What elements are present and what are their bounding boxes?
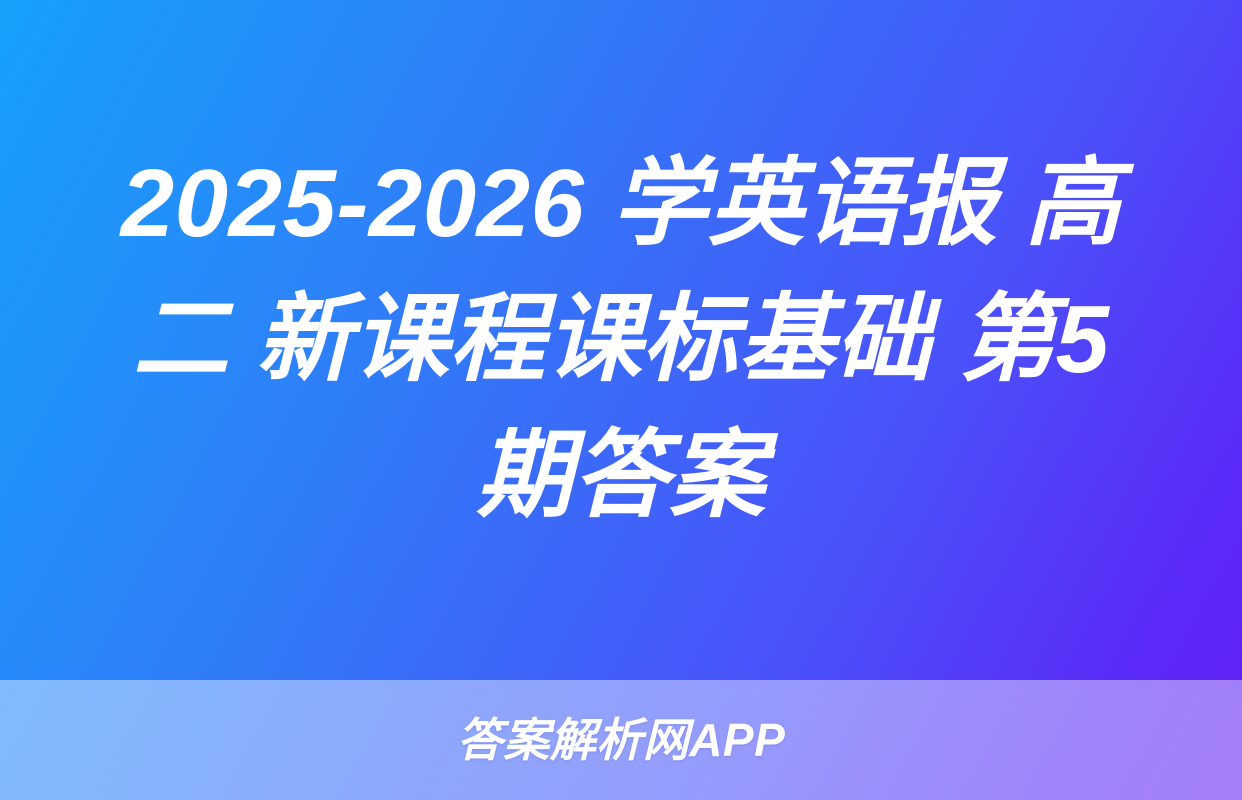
watermark-text: 答案解析网APP: [457, 717, 786, 763]
title-line-3: 期答案: [56, 408, 1186, 544]
poster-canvas: 2025-2026 学英语报 高二 新课程课标基础 第5期答案 答案解析网APP: [0, 0, 1242, 800]
title-line-1: 2025-2026 学英语报 高: [56, 136, 1186, 272]
title-line-2: 二 新课程课标基础 第5: [56, 272, 1186, 408]
title-block: 2025-2026 学英语报 高二 新课程课标基础 第5期答案: [0, 0, 1242, 680]
watermark-bar: 答案解析网APP: [0, 680, 1242, 800]
page-title: 2025-2026 学英语报 高二 新课程课标基础 第5期答案: [56, 136, 1186, 545]
